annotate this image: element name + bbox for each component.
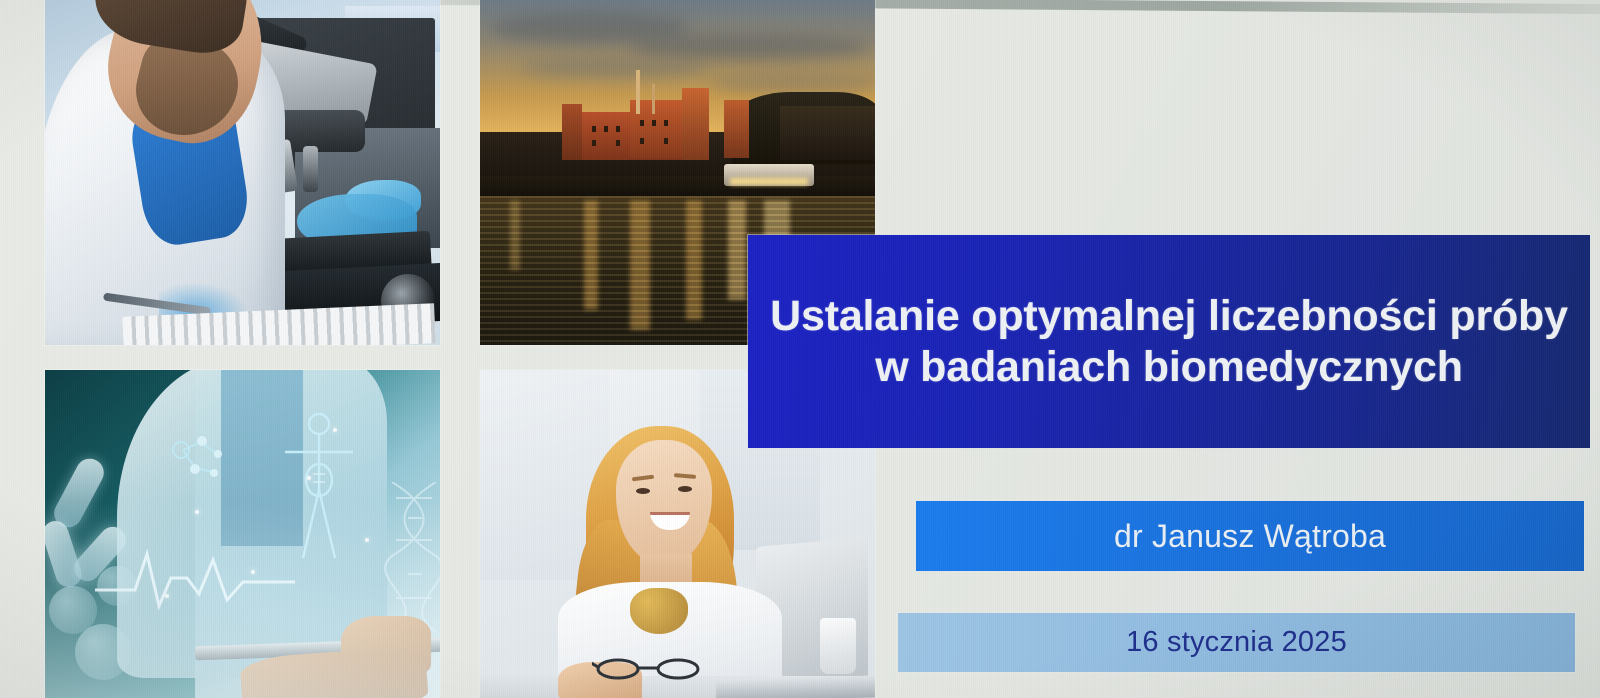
author-name: dr Janusz Wątroba xyxy=(1114,518,1386,555)
eyeglasses-icon xyxy=(592,656,710,680)
slide-title-line-2: w badaniach biomedycznych xyxy=(875,342,1463,393)
presentation-slide: Ustalanie optymalnej liczebności próby w… xyxy=(0,0,1600,698)
slide-title-line-1: Ustalanie optymalnej liczebności próby xyxy=(770,291,1568,342)
scientist-at-microscope-photo xyxy=(45,0,440,345)
medical-hologram-photo xyxy=(45,370,440,698)
author-bar: dr Janusz Wątroba xyxy=(916,501,1584,571)
date-bar: 16 stycznia 2025 xyxy=(898,613,1575,672)
slide-title-block: Ustalanie optymalnej liczebności próby w… xyxy=(748,235,1590,448)
presentation-date: 16 stycznia 2025 xyxy=(1126,626,1347,659)
